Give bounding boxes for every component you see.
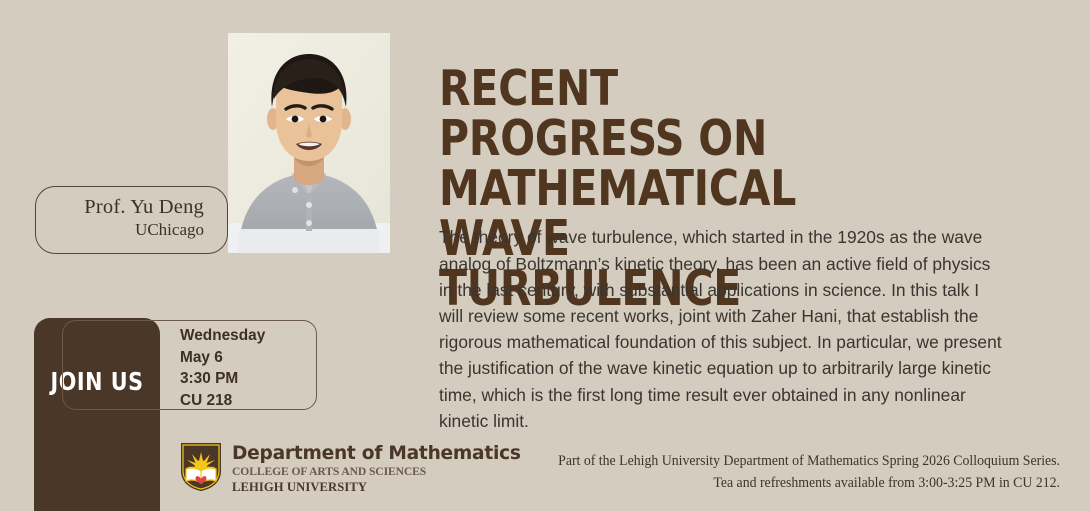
footer-line-2: Tea and refreshments available from 3:00… [522,472,1060,494]
logo-text-block: Department of Mathematics COLLEGE OF ART… [232,441,521,495]
speaker-info-box: Prof. Yu Deng UChicago [35,186,228,254]
speaker-name: Prof. Yu Deng [36,196,204,219]
talk-abstract: The theory of wave turbulence, which sta… [439,224,1007,434]
event-room: CU 218 [180,390,265,412]
event-day: Wednesday [180,325,265,347]
lehigh-crest-icon [179,441,223,493]
footer-note: Part of the Lehigh University Department… [522,450,1060,494]
speaker-portrait-photo [228,33,390,253]
lehigh-logo: Department of Mathematics COLLEGE OF ART… [179,441,521,495]
logo-college: COLLEGE OF ARTS AND SCIENCES [232,464,521,479]
logo-department: Department of Mathematics [232,443,521,464]
event-details: Wednesday May 6 3:30 PM CU 218 [180,325,265,412]
portrait-illustration [228,33,390,253]
colloquium-poster: Prof. Yu Deng UChicago [0,0,1090,511]
logo-university: LEHIGH UNIVERSITY [232,479,521,495]
event-date: May 6 [180,347,265,369]
event-time: 3:30 PM [180,368,265,390]
speaker-affiliation: UChicago [36,219,204,241]
footer-line-1: Part of the Lehigh University Department… [522,450,1060,472]
